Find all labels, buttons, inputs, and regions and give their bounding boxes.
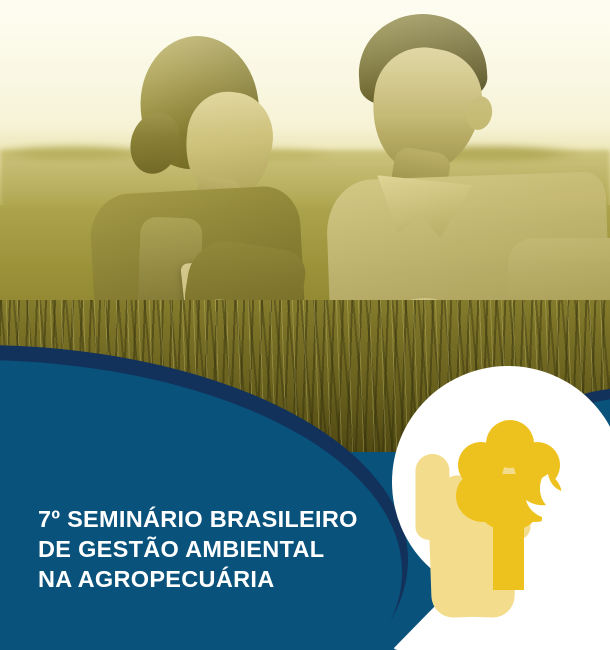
event-logo [404,418,610,628]
title-line-1: 7º SEMINÁRIO BRASILEIRO [38,504,378,534]
event-title: 7º SEMINÁRIO BRASILEIRO DE GESTÃO AMBIEN… [38,504,378,594]
event-poster: 7º SEMINÁRIO BRASILEIRO DE GESTÃO AMBIEN… [0,0,610,650]
tree-canopy-blob [486,420,534,468]
title-line-3: NA AGROPECUÁRIA [38,564,378,594]
tree-icon [456,420,562,590]
title-line-2: DE GESTÃO AMBIENTAL [38,534,378,564]
dove-icon [518,468,610,542]
